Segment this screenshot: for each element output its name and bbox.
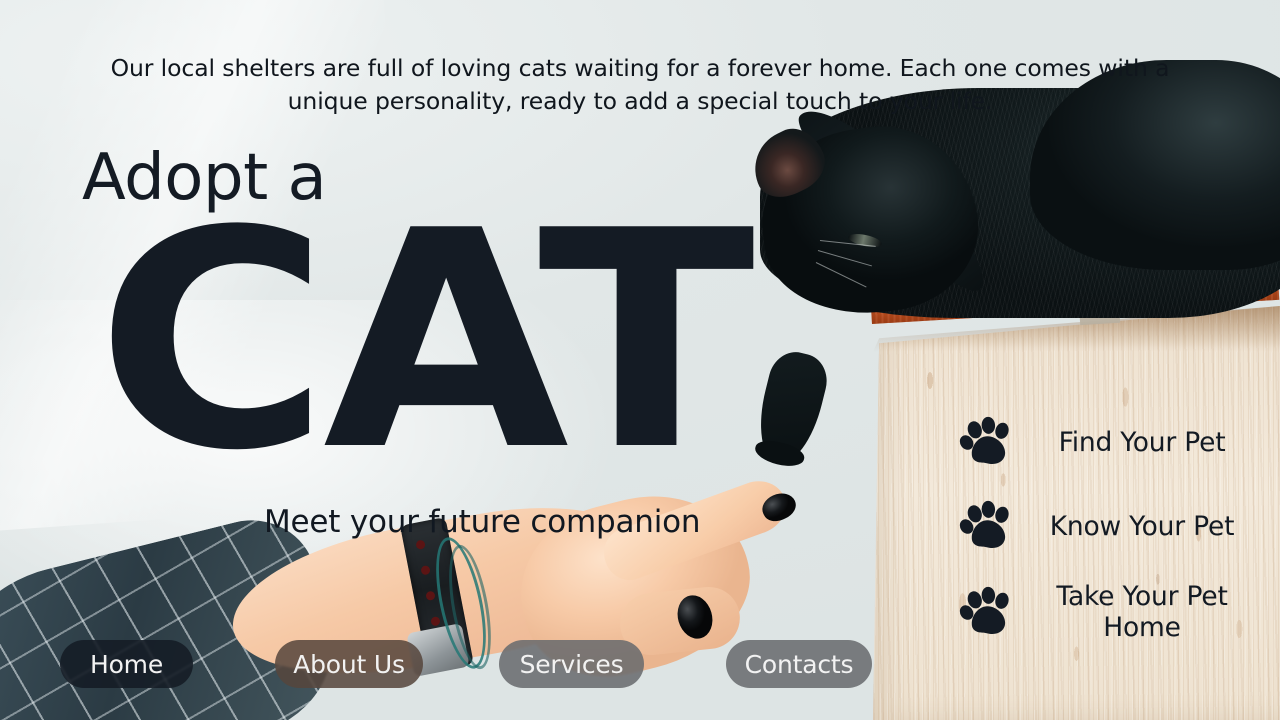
nav-item-home[interactable]: Home [60,640,193,688]
list-item-label: Take Your Pet Home [1026,582,1258,643]
cat-paw [749,347,832,470]
nav-item-contacts[interactable]: Contacts [726,640,872,688]
paw-print-icon [958,414,1016,472]
tagline: Meet your future companion [264,504,700,540]
nav-item-services[interactable]: Services [499,640,644,688]
eyebrow-heading: Adopt a [82,146,326,210]
list-item-label: Find Your Pet [1026,428,1258,459]
list-item[interactable]: Find Your Pet [958,414,1258,472]
feature-list: Find Your Pet Know Your Pet [958,414,1258,669]
list-item-label: Know Your Pet [1026,512,1258,543]
list-item[interactable]: Take Your Pet Home [958,582,1258,643]
paw-print-icon [958,498,1016,556]
page-title: CAT [96,216,749,468]
nav-item-about-us[interactable]: About Us [275,640,423,688]
intro-paragraph: Our local shelters are full of loving ca… [80,52,1200,119]
hero-slide: CAT Our local shelters are full of lovin… [0,0,1280,720]
main-navigation: Home About Us Services Contacts [60,640,872,688]
paw-print-icon [958,584,1016,642]
list-item[interactable]: Know Your Pet [958,498,1258,556]
